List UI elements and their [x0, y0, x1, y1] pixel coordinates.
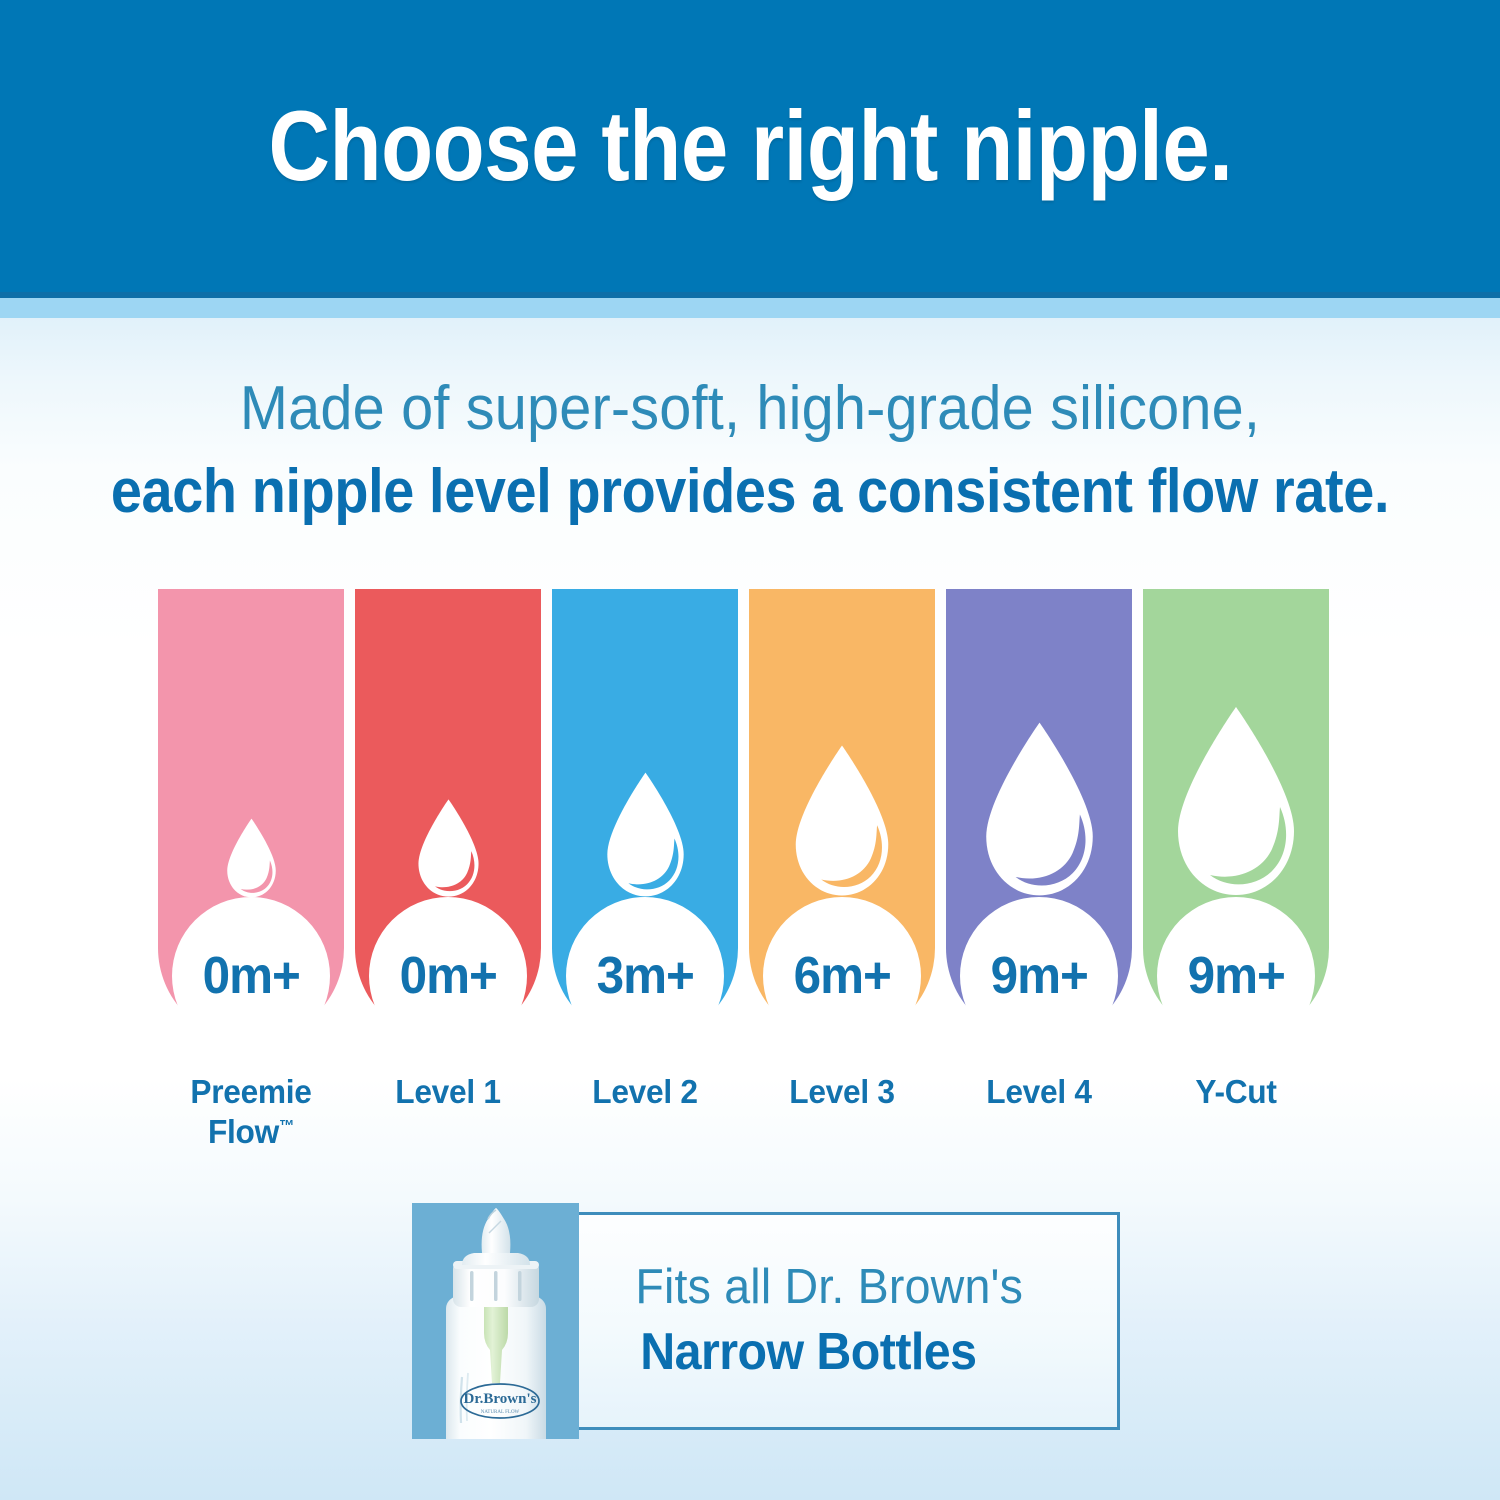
nipple-level-cards: 0m+0m+3m+6m+9m+9m+	[158, 589, 1341, 1041]
nipple-level-label-line-1: Preemie	[162, 1072, 341, 1112]
promo-line-2: Narrow Bottles	[640, 1322, 1099, 1382]
dr-browns-logo-text: Dr.Brown's	[464, 1391, 537, 1407]
subtitle-line-1: Made of super-soft, high-grade silicone,	[53, 372, 1448, 445]
nipple-level-label-line-1: Level 4	[950, 1072, 1129, 1112]
compatibility-promo: Dr.Brown's NATURAL FLOW Fits all Dr. Bro…	[412, 1203, 1120, 1439]
flow-droplet-icon	[946, 589, 1132, 899]
flow-droplet-icon	[355, 589, 541, 899]
svg-text:NATURAL FLOW: NATURAL FLOW	[481, 1410, 520, 1415]
nipple-level-card[interactable]: 3m+	[552, 589, 738, 1041]
nipple-level-label-line-1: Level 1	[359, 1072, 538, 1112]
age-badge: 9m+	[960, 897, 1118, 1055]
nipple-level-label-line-1: Level 3	[753, 1072, 932, 1112]
nipple-level-label-line-1: Level 2	[556, 1072, 735, 1112]
page-title: Choose the right nipple.	[268, 89, 1232, 203]
flow-droplet-icon	[1143, 589, 1329, 899]
age-badge-label: 9m+	[990, 946, 1087, 1006]
age-badge: 6m+	[763, 897, 921, 1055]
nipple-level-label-line-2-text: Flow	[208, 1113, 279, 1150]
subtitle-line-2: each nipple level provides a consistent …	[75, 455, 1425, 528]
nipple-level-label: Level 3	[753, 1072, 932, 1182]
age-badge: 3m+	[566, 897, 724, 1055]
age-badge: 0m+	[369, 897, 527, 1055]
flow-droplet-icon	[552, 589, 738, 899]
nipple-level-label: Level 1	[359, 1072, 538, 1182]
nipple-level-label: Y-Cut	[1147, 1072, 1326, 1182]
age-badge: 9m+	[1157, 897, 1315, 1055]
baby-bottle-illustration: Dr.Brown's NATURAL FLOW	[428, 1205, 564, 1439]
age-badge-label: 9m+	[1187, 946, 1284, 1006]
flow-droplet-icon	[158, 589, 344, 899]
age-badge-label: 0m+	[399, 946, 496, 1006]
header-accent-strip	[0, 298, 1500, 318]
nipple-level-label-line-1: Y-Cut	[1147, 1072, 1326, 1112]
flow-droplet-icon	[749, 589, 935, 899]
promo-text-frame: Fits all Dr. Brown's Narrow Bottles	[579, 1212, 1120, 1430]
age-badge: 0m+	[172, 897, 330, 1055]
nipple-level-label: Level 2	[556, 1072, 735, 1182]
nipple-level-card[interactable]: 9m+	[946, 589, 1132, 1041]
nipple-level-label: PreemieFlow™	[162, 1072, 341, 1182]
promo-line-1: Fits all Dr. Brown's	[635, 1259, 1104, 1316]
nipple-level-label-line-2: Flow™	[162, 1112, 341, 1152]
bottle-photo: Dr.Brown's NATURAL FLOW	[412, 1203, 579, 1439]
age-badge-label: 6m+	[793, 946, 890, 1006]
nipple-level-card[interactable]: 0m+	[355, 589, 541, 1041]
age-badge-label: 3m+	[596, 946, 693, 1006]
age-badge-label: 0m+	[202, 946, 299, 1006]
header-banner: Choose the right nipple.	[0, 0, 1500, 292]
nipple-level-card[interactable]: 9m+	[1143, 589, 1329, 1041]
nipple-level-card[interactable]: 6m+	[749, 589, 935, 1041]
nipple-level-card[interactable]: 0m+	[158, 589, 344, 1041]
trademark-symbol: ™	[279, 1118, 294, 1135]
nipple-level-label: Level 4	[950, 1072, 1129, 1182]
subtitle-block: Made of super-soft, high-grade silicone,…	[0, 372, 1500, 528]
nipple-level-labels: PreemieFlow™Level 1Level 2Level 3Level 4…	[158, 1072, 1341, 1182]
